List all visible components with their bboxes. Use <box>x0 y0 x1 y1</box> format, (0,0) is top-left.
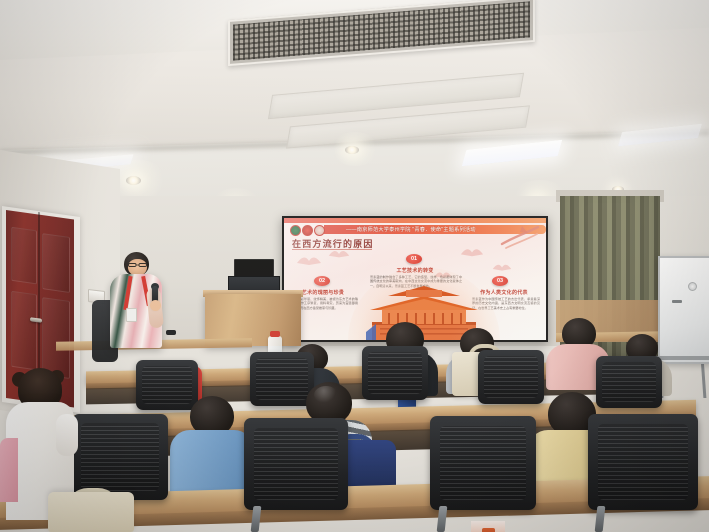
crane-silhouette-icon-4 <box>492 262 512 273</box>
slide-emblem-red-icon <box>302 225 313 236</box>
whiteboard-magnet-icon[interactable] <box>688 282 697 291</box>
presenter-hand <box>150 300 161 311</box>
slide-badge-03: 03 <box>492 276 508 286</box>
mesh-chair-r2-5[interactable] <box>136 360 198 410</box>
cream-tote-bag[interactable] <box>48 492 134 532</box>
slide-badge-02: 02 <box>314 276 330 286</box>
monitor-screen <box>471 521 505 532</box>
whiteboard-tray <box>656 356 709 360</box>
slide-top-accent-bar <box>284 218 546 223</box>
whiteboard-leg-right <box>701 358 707 398</box>
mesh-chair-r2-1[interactable] <box>250 352 314 406</box>
slide-badge-01: 01 <box>406 254 422 264</box>
crane-silhouette-icon-1 <box>296 254 322 268</box>
mesh-chair-r2-2[interactable] <box>362 346 428 400</box>
classroom-scene: ——南京师范大学泰州学院 "青春．使命"主题系列活动 在西方流行的原因 01 工… <box>0 0 709 532</box>
id-badge <box>126 308 137 322</box>
slide-emblem-green-icon <box>290 225 301 236</box>
crane-silhouette-icon-2 <box>328 248 350 260</box>
mesh-chair-r2-4[interactable] <box>596 356 662 408</box>
brush-stroke-swoosh-icon <box>498 224 542 250</box>
chair-fg-3-leg <box>437 506 448 532</box>
monitor-palace-icon <box>482 528 495 532</box>
child-blue-body <box>170 430 254 498</box>
mesh-chair-fg-4[interactable] <box>588 414 698 510</box>
chair-fg-2-leg <box>251 506 262 532</box>
projection-screen[interactable]: ——南京师范大学泰州学院 "青春．使命"主题系列活动 在西方流行的原因 01 工… <box>284 218 546 340</box>
mesh-chair-r2-3[interactable] <box>478 350 544 404</box>
bottle-cap-left <box>270 331 280 337</box>
crane-silhouette-icon-3 <box>460 246 484 259</box>
mobile-whiteboard[interactable] <box>658 256 709 364</box>
mesh-chair-fg-3[interactable] <box>430 416 536 510</box>
child-striped-hair-shine <box>314 386 338 404</box>
downlight-1 <box>126 176 141 185</box>
slide-emblem-pale-icon <box>314 225 325 236</box>
child-white-shirt-sleeve <box>56 414 78 456</box>
child-pink-sleeve <box>0 438 18 502</box>
whiteboard-marker-icon[interactable] <box>672 300 682 303</box>
glasses-icon <box>128 263 147 267</box>
mesh-chair-fg-2[interactable] <box>244 418 348 510</box>
presentation-clicker-icon[interactable] <box>166 330 176 335</box>
downlight-2 <box>345 146 359 154</box>
chair-fg-4-leg <box>595 506 606 532</box>
